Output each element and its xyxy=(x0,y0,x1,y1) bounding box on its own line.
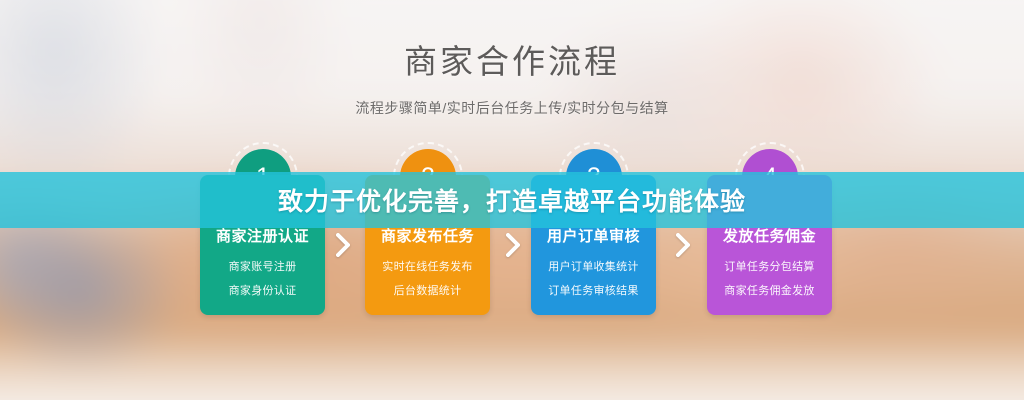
overlay-banner: 致力于优化完善，打造卓越平台功能体验 xyxy=(0,172,1024,228)
flow-step-title-4: 发放任务佣金 xyxy=(707,227,832,247)
flow-step-detail-4a: 订单任务分包结算 xyxy=(707,260,832,274)
flow-step-detail-1a: 商家账号注册 xyxy=(200,260,325,274)
page-subtitle: 流程步骤简单/实时后台任务上传/实时分包与结算 xyxy=(0,98,1024,118)
flow-step-detail-1b: 商家身份认证 xyxy=(200,284,325,298)
flow-step-title-2: 商家发布任务 xyxy=(365,227,490,247)
flow-step-detail-2b: 后台数据统计 xyxy=(365,284,490,298)
page-title: 商家合作流程 xyxy=(0,40,1024,84)
promo-banner-stage: 商家合作流程 流程步骤简单/实时后台任务上传/实时分包与结算 1 2 3 4 商… xyxy=(0,0,1024,400)
flow-step-detail-2a: 实时在线任务发布 xyxy=(365,260,490,274)
chevron-right-icon-3 xyxy=(673,232,695,258)
flow-step-title-3: 用户订单审核 xyxy=(531,227,656,247)
flow-step-detail-3a: 用户订单收集统计 xyxy=(531,260,656,274)
overlay-banner-text: 致力于优化完善，打造卓越平台功能体验 xyxy=(278,182,746,218)
chevron-right-icon-2 xyxy=(503,232,525,258)
heading-block: 商家合作流程 流程步骤简单/实时后台任务上传/实时分包与结算 xyxy=(0,40,1024,118)
flow-step-detail-4b: 商家任务佣金发放 xyxy=(707,284,832,298)
chevron-right-icon-1 xyxy=(333,232,355,258)
flow-step-title-1: 商家注册认证 xyxy=(200,227,325,247)
flow-step-detail-3b: 订单任务审核结果 xyxy=(531,284,656,298)
